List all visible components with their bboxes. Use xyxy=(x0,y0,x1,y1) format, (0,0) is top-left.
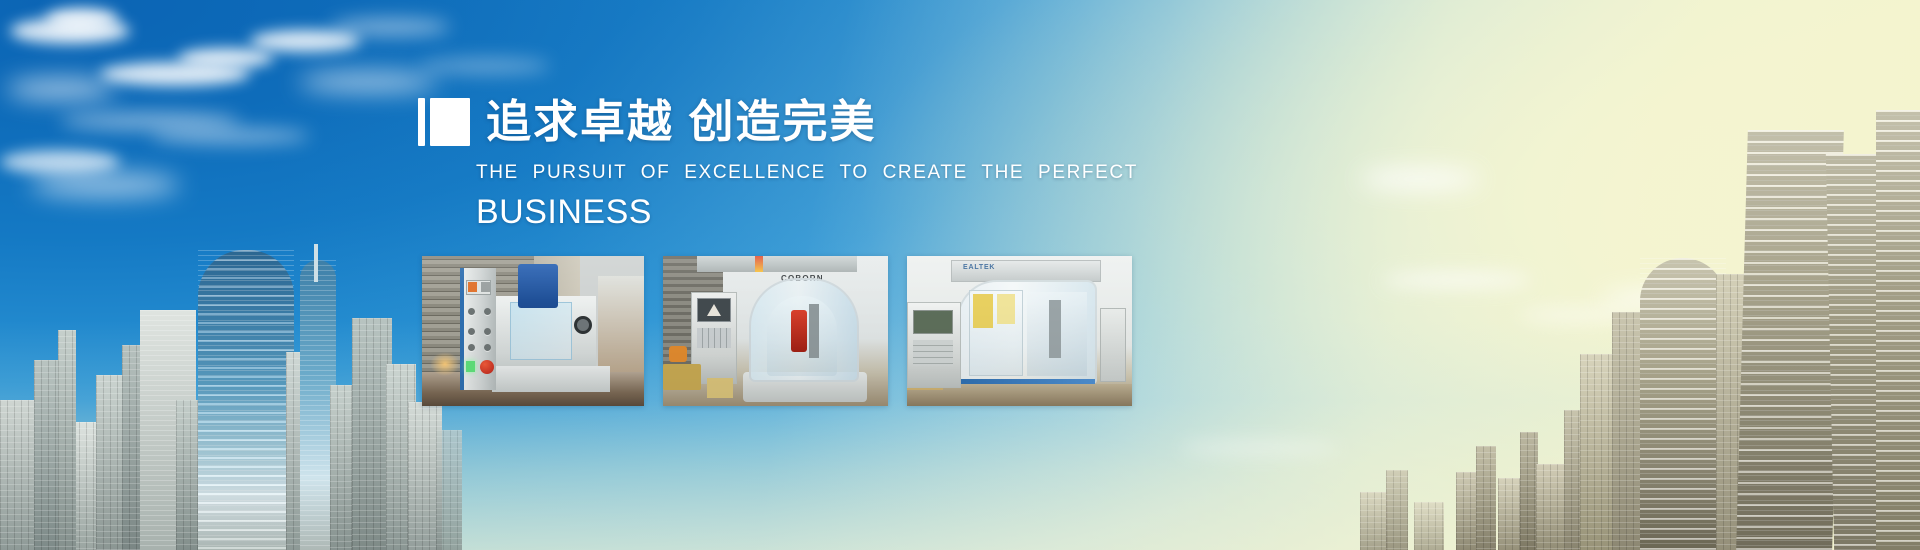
banner-text-block: 追求卓越 创造完美 THE PURSUIT OF EXCELLENCE TO C… xyxy=(418,98,1098,231)
business-word: BUSINESS xyxy=(476,193,1098,231)
city-skyline-left xyxy=(0,220,470,550)
subtitle-english: THE PURSUIT OF EXCELLENCE TO CREATE THE … xyxy=(476,162,1098,184)
photo-enclosed-grinding-machine[interactable]: EALTEK xyxy=(907,256,1132,406)
headline-row: 追求卓越 创造完美 xyxy=(418,98,1098,146)
photo-coborn-grinding-machine[interactable]: COBORN xyxy=(663,256,888,406)
company-logo-mark xyxy=(418,98,470,146)
photo-label-ealtek: EALTEK xyxy=(963,264,995,271)
logo-square-icon xyxy=(430,98,470,146)
hero-banner: 追求卓越 创造完美 THE PURSUIT OF EXCELLENCE TO C… xyxy=(0,0,1920,550)
photo-cnc-milling-machine[interactable] xyxy=(422,256,644,406)
city-skyline-right xyxy=(1360,120,1920,550)
machine-photo-strip: COBORN EALTEK xyxy=(422,256,1132,406)
logo-bar-icon xyxy=(418,98,425,146)
headline-chinese: 追求卓越 创造完美 xyxy=(486,98,877,146)
